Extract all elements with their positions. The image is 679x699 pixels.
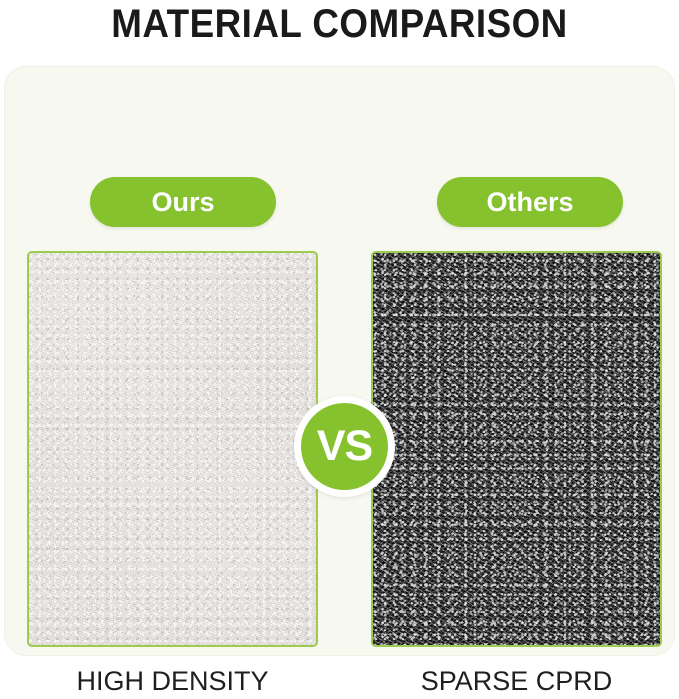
material-sample-left (27, 251, 318, 647)
page-title: MATERIAL COMPARISON (27, 2, 652, 46)
dense-material-texture (29, 253, 316, 645)
comparison-card: Ours Others VS HIGH DENSITY SPARSE CPRD (4, 66, 675, 656)
vs-badge: VS (294, 396, 395, 497)
label-pill-ours: Ours (90, 177, 276, 227)
material-sample-right (371, 251, 662, 647)
caption-left: HIGH DENSITY (27, 663, 318, 699)
label-pill-others: Others (437, 177, 623, 227)
sparse-material-texture (373, 253, 660, 645)
caption-right: SPARSE CPRD (371, 663, 662, 699)
